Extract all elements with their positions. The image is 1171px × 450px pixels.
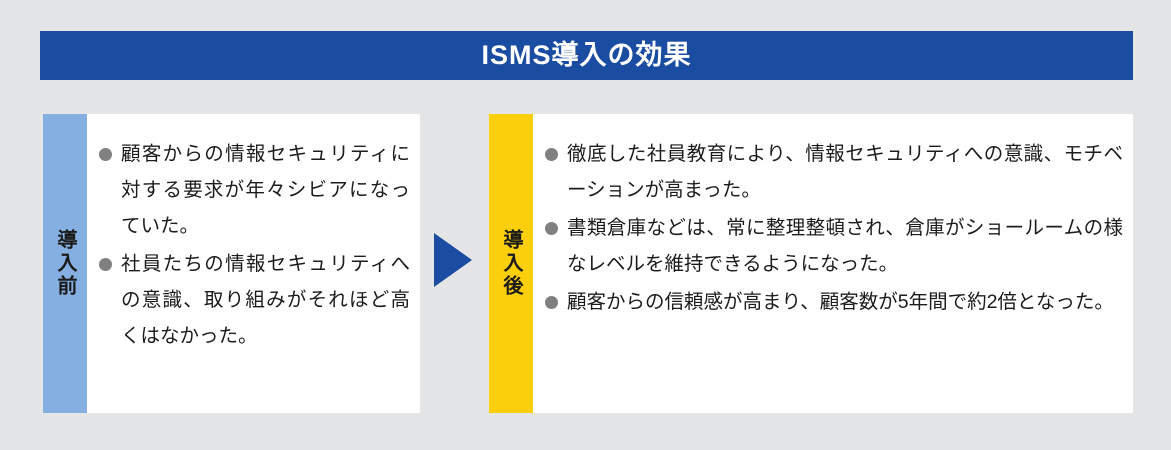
panel-before-body: 顧客からの情報セキュリティに対する要求が年々シビアになっていた。 社員たちの情報… xyxy=(87,114,420,413)
bullet-dot-icon xyxy=(99,258,112,271)
page-title: ISMS導入の効果 xyxy=(481,42,691,69)
panel-before: 導入前 顧客からの情報セキュリティに対する要求が年々シビアになっていた。 社員た… xyxy=(43,114,420,413)
list-item-text: 顧客からの情報セキュリティに対する要求が年々シビアになっていた。 xyxy=(121,143,410,237)
list-item-text: 徹底した社員教育により、情報セキュリティへの意識、モチベーションが高まった。 xyxy=(567,143,1123,201)
bullet-dot-icon xyxy=(545,296,558,309)
list-item: 書類倉庫などは、常に整理整頓され、倉庫がショールームの様なレベルを維持できるよう… xyxy=(545,210,1123,282)
bullet-dot-icon xyxy=(545,222,558,235)
panel-before-label: 導入前 xyxy=(55,229,75,298)
list-item: 顧客からの信頼感が高まり、顧客数が5年間で約2倍となった。 xyxy=(545,284,1123,320)
bullet-dot-icon xyxy=(99,148,112,161)
slide-canvas: ISMS導入の効果 導入前 顧客からの情報セキュリティに対する要求が年々シビアに… xyxy=(0,0,1171,450)
title-banner: ISMS導入の効果 xyxy=(40,31,1133,80)
list-item-text: 社員たちの情報セキュリティへの意識、取り組みがそれほど高くはなかった。 xyxy=(121,253,410,347)
list-item: 社員たちの情報セキュリティへの意識、取り組みがそれほど高くはなかった。 xyxy=(99,246,410,354)
panel-after: 導入後 徹底した社員教育により、情報セキュリティへの意識、モチベーションが高まっ… xyxy=(489,114,1133,413)
list-item-text: 顧客からの信頼感が高まり、顧客数が5年間で約2倍となった。 xyxy=(567,291,1114,313)
list-item: 顧客からの情報セキュリティに対する要求が年々シビアになっていた。 xyxy=(99,136,410,244)
list-item-text: 書類倉庫などは、常に整理整頓され、倉庫がショールームの様なレベルを維持できるよう… xyxy=(567,217,1123,275)
panel-after-body: 徹底した社員教育により、情報セキュリティへの意識、モチベーションが高まった。 書… xyxy=(533,114,1133,413)
panel-after-bullet-list: 徹底した社員教育により、情報セキュリティへの意識、モチベーションが高まった。 書… xyxy=(545,136,1123,320)
triangle-right-icon xyxy=(434,233,472,287)
list-item: 徹底した社員教育により、情報セキュリティへの意識、モチベーションが高まった。 xyxy=(545,136,1123,208)
panel-after-label-bar: 導入後 xyxy=(489,114,533,413)
panel-before-label-bar: 導入前 xyxy=(43,114,87,413)
panel-before-bullet-list: 顧客からの情報セキュリティに対する要求が年々シビアになっていた。 社員たちの情報… xyxy=(99,136,410,354)
bullet-dot-icon xyxy=(545,148,558,161)
panel-after-label: 導入後 xyxy=(501,229,521,298)
